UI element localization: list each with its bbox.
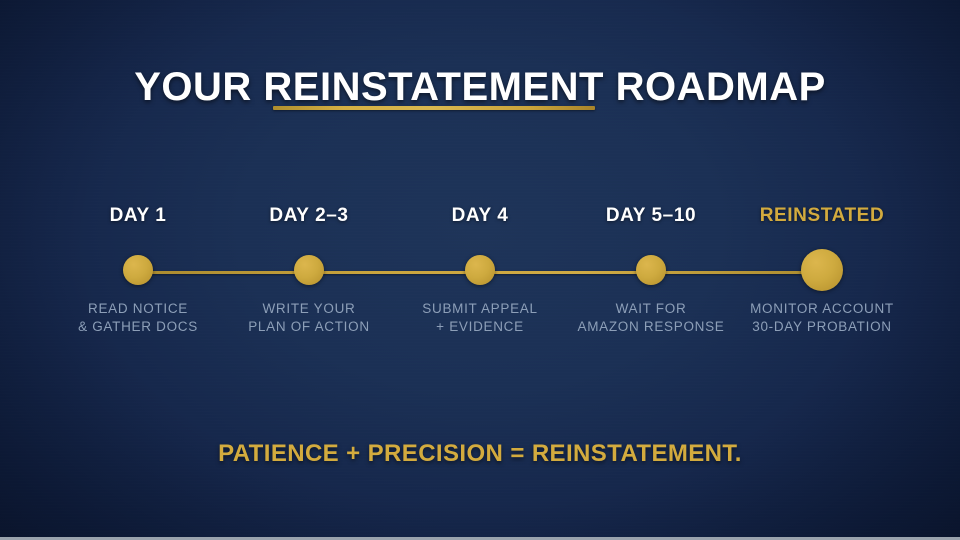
timeline-step[interactable]: DAY 5–10 WAIT FOR AMAZON RESPONSE bbox=[551, 205, 751, 336]
timeline-step[interactable]: DAY 1 READ NOTICE & GATHER DOCS bbox=[38, 205, 238, 336]
timeline-step-description-line2: + EVIDENCE bbox=[380, 318, 580, 336]
page-title: YOUR REINSTATEMENT ROADMAP bbox=[0, 64, 960, 110]
timeline-step-label: DAY 5–10 bbox=[551, 205, 751, 227]
timeline-dot-icon bbox=[801, 249, 843, 291]
timeline-step-description-line2: AMAZON RESPONSE bbox=[551, 318, 751, 336]
title-block: YOUR REINSTATEMENT ROADMAP bbox=[0, 64, 960, 110]
slide-canvas: YOUR REINSTATEMENT ROADMAP DAY 1 READ NO… bbox=[0, 0, 960, 540]
timeline-dot-icon bbox=[123, 255, 153, 285]
timeline-step-marker-wrap bbox=[551, 248, 751, 292]
timeline-step-description: READ NOTICE & GATHER DOCS bbox=[38, 300, 238, 336]
closing-tagline: PATIENCE + PRECISION = REINSTATEMENT. bbox=[0, 440, 960, 468]
timeline-step-description: WAIT FOR AMAZON RESPONSE bbox=[551, 300, 751, 336]
timeline-dot-icon bbox=[465, 255, 495, 285]
timeline-step-marker-wrap bbox=[38, 248, 238, 292]
timeline-step-description-line2: 30-DAY PROBATION bbox=[722, 318, 922, 336]
timeline-step[interactable]: DAY 2–3 WRITE YOUR PLAN OF ACTION bbox=[209, 205, 409, 336]
timeline-step-description: WRITE YOUR PLAN OF ACTION bbox=[209, 300, 409, 336]
title-prefix: YOUR bbox=[134, 65, 263, 109]
timeline-step-label: REINSTATED bbox=[722, 205, 922, 227]
timeline-step-description-line1: WRITE YOUR bbox=[209, 300, 409, 318]
timeline-step-description-line1: MONITOR ACCOUNT bbox=[722, 300, 922, 318]
timeline-step-marker-wrap bbox=[209, 248, 409, 292]
timeline-step-final[interactable]: REINSTATED MONITOR ACCOUNT 30-DAY PROBAT… bbox=[722, 205, 922, 336]
timeline-step-marker-wrap bbox=[380, 248, 580, 292]
timeline-step-label: DAY 2–3 bbox=[209, 205, 409, 227]
timeline-step-description-line1: SUBMIT APPEAL bbox=[380, 300, 580, 318]
title-underline-accent bbox=[273, 106, 595, 110]
timeline-dot-icon bbox=[636, 255, 666, 285]
timeline-step[interactable]: DAY 4 SUBMIT APPEAL + EVIDENCE bbox=[380, 205, 580, 336]
timeline-step-description: MONITOR ACCOUNT 30-DAY PROBATION bbox=[722, 300, 922, 336]
timeline-step-description-line2: PLAN OF ACTION bbox=[209, 318, 409, 336]
title-emphasis: REINSTATEMENT bbox=[263, 65, 604, 109]
timeline-step-label: DAY 4 bbox=[380, 205, 580, 227]
roadmap-timeline: DAY 1 READ NOTICE & GATHER DOCS DAY 2–3 … bbox=[0, 205, 960, 360]
title-suffix: ROADMAP bbox=[604, 65, 826, 109]
timeline-step-label: DAY 1 bbox=[38, 205, 238, 227]
timeline-step-description: SUBMIT APPEAL + EVIDENCE bbox=[380, 300, 580, 336]
timeline-dot-icon bbox=[294, 255, 324, 285]
timeline-step-description-line1: READ NOTICE bbox=[38, 300, 238, 318]
timeline-step-description-line2: & GATHER DOCS bbox=[38, 318, 238, 336]
timeline-step-description-line1: WAIT FOR bbox=[551, 300, 751, 318]
timeline-step-marker-wrap bbox=[722, 248, 922, 292]
